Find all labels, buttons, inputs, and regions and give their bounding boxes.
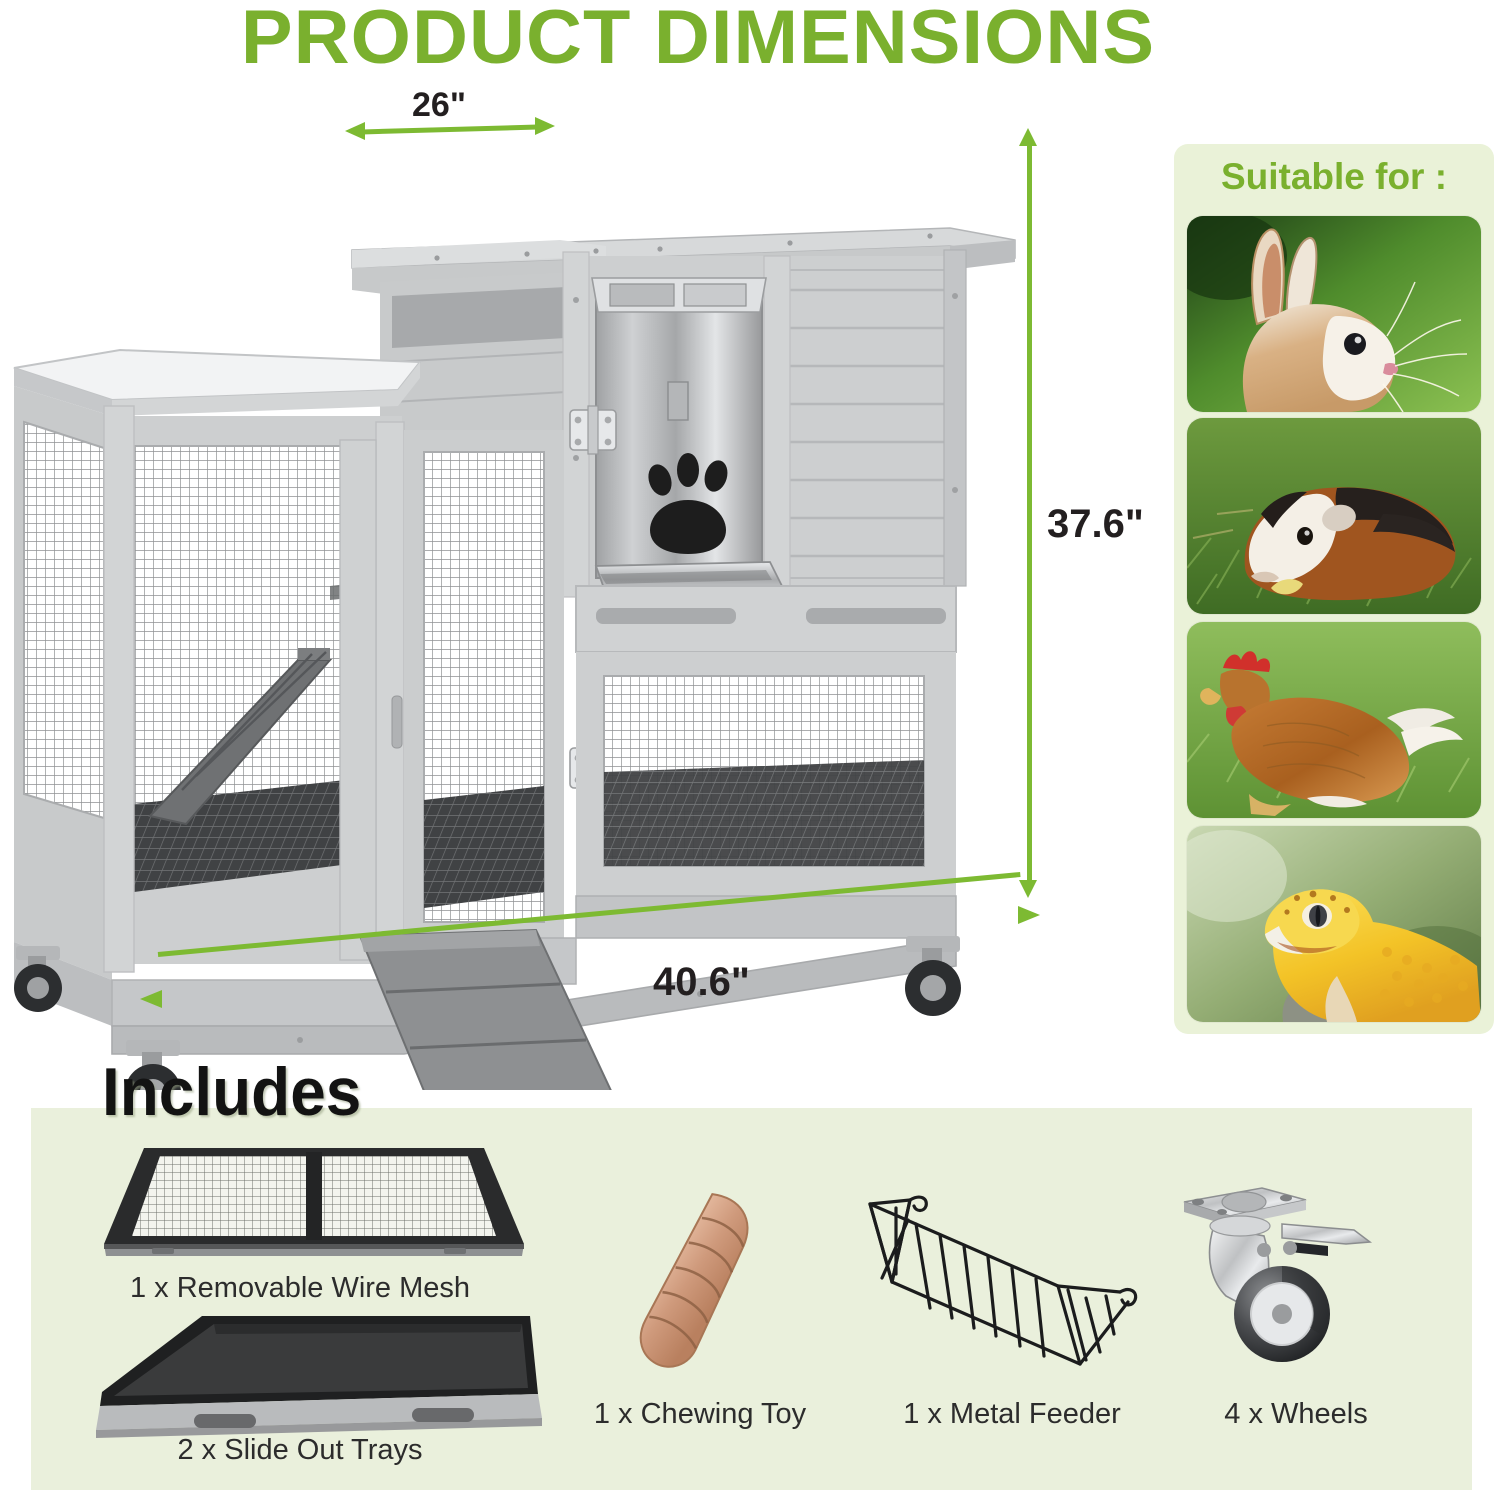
depth-dimension-label: 40.6" [653, 960, 750, 1005]
includes-caption-metal-feeder: 1 x Metal Feeder [862, 1398, 1162, 1431]
depth-dimension-arrow [140, 900, 1040, 1020]
includes-heading: Includes [102, 1053, 361, 1131]
door-hinge-top [570, 406, 616, 454]
caster-left-back [14, 946, 62, 1012]
wire-mesh-icon [92, 1140, 532, 1270]
animal-photo-guinea-pig [1187, 418, 1481, 614]
suitable-for-heading: Suitable for : [1174, 156, 1494, 198]
includes-caption-wire-mesh: 1 x Removable Wire Mesh [60, 1272, 540, 1305]
page-title: PRODUCT DIMENSIONS [208, 0, 1187, 81]
infographic-page: PRODUCT DIMENSIONS [0, 0, 1499, 1500]
wheel-icon [1178, 1186, 1408, 1381]
animal-photo-rabbit [1187, 216, 1481, 412]
slide-out-tray-icon [86, 1310, 546, 1438]
height-dimension-label: 37.6" [1047, 502, 1144, 547]
width-dimension-label: 26" [412, 86, 466, 125]
includes-caption-chewing-toy: 1 x Chewing Toy [540, 1398, 860, 1431]
animal-photo-chicken [1187, 622, 1481, 818]
includes-caption-wheels: 4 x Wheels [1176, 1398, 1416, 1431]
chewing-toy-icon [608, 1190, 788, 1380]
height-dimension-arrow [1022, 128, 1036, 898]
suitable-for-panel: Suitable for : [1174, 144, 1494, 1034]
animal-photo-lizard [1187, 826, 1481, 1022]
slide-out-drawer [576, 586, 956, 652]
metal-door-with-paw-print [592, 278, 782, 594]
metal-feeder-icon [852, 1190, 1152, 1375]
includes-caption-slide-out-trays: 2 x Slide Out Trays [60, 1434, 540, 1467]
